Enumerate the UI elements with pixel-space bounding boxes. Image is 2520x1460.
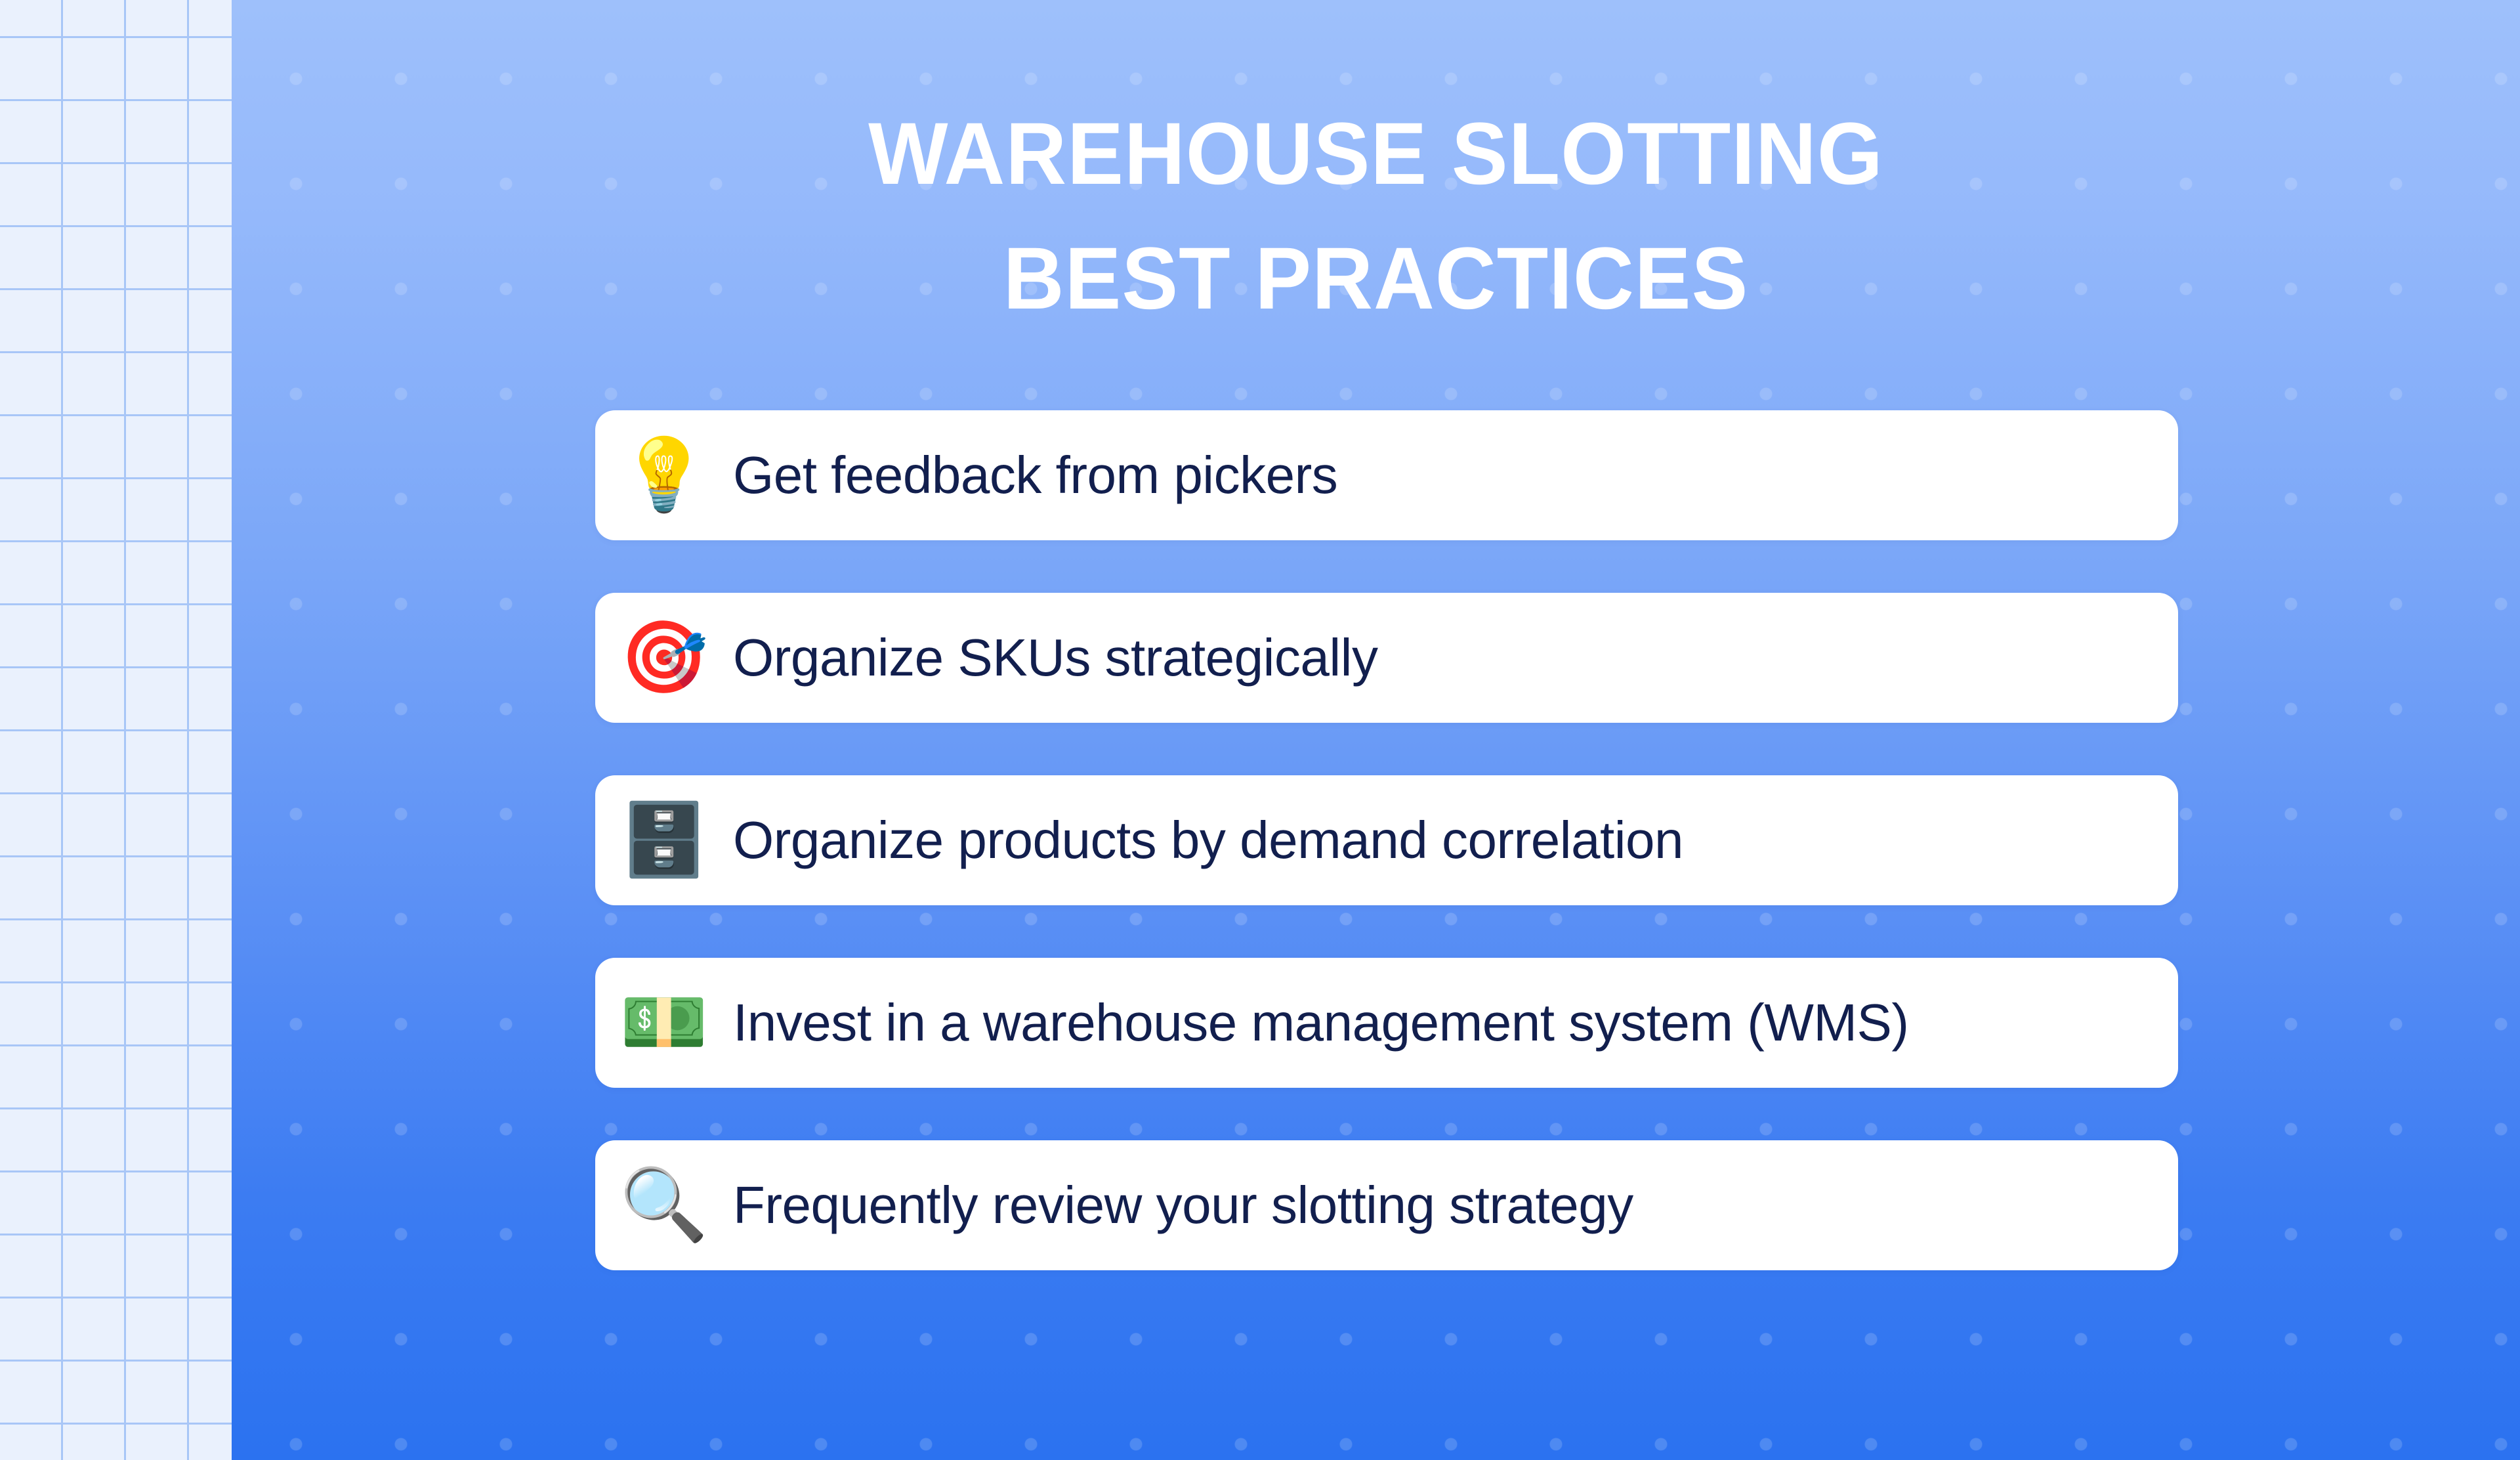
poster-content: WAREHOUSE SLOTTING BEST PRACTICES 💡 Get … bbox=[232, 0, 2520, 1460]
page-title-line-2: BEST PRACTICES bbox=[278, 217, 2475, 341]
magnifying-glass-icon: 🔍 bbox=[595, 1170, 733, 1241]
bullseye-dart-icon: 🎯 bbox=[595, 622, 733, 693]
file-cabinet-icon: 🗄️ bbox=[595, 805, 733, 876]
best-practices-list: 💡 Get feedback from pickers 🎯 Organize S… bbox=[595, 410, 2178, 1270]
list-item[interactable]: 🔍 Frequently review your slotting strate… bbox=[595, 1140, 2178, 1270]
list-item-label: Frequently review your slotting strategy bbox=[733, 1174, 2178, 1237]
infographic-poster: WAREHOUSE SLOTTING BEST PRACTICES 💡 Get … bbox=[0, 0, 2520, 1460]
list-item-label: Organize products by demand correlation bbox=[733, 809, 2178, 872]
list-item[interactable]: 🎯 Organize SKUs strategically bbox=[595, 593, 2178, 723]
list-item-label: Get feedback from pickers bbox=[733, 444, 2178, 507]
list-item[interactable]: 💡 Get feedback from pickers bbox=[595, 410, 2178, 540]
page-title: WAREHOUSE SLOTTING BEST PRACTICES bbox=[232, 92, 2520, 341]
list-item[interactable]: 🗄️ Organize products by demand correlati… bbox=[595, 775, 2178, 905]
list-item[interactable]: 💵 Invest in a warehouse management syste… bbox=[595, 958, 2178, 1088]
light-bulb-icon: 💡 bbox=[595, 440, 733, 511]
graph-paper-strip bbox=[0, 0, 232, 1460]
list-item-label: Invest in a warehouse management system … bbox=[733, 991, 2178, 1054]
page-title-line-1: WAREHOUSE SLOTTING bbox=[278, 92, 2475, 217]
dollar-banknote-icon: 💵 bbox=[595, 987, 733, 1058]
list-item-label: Organize SKUs strategically bbox=[733, 626, 2178, 689]
